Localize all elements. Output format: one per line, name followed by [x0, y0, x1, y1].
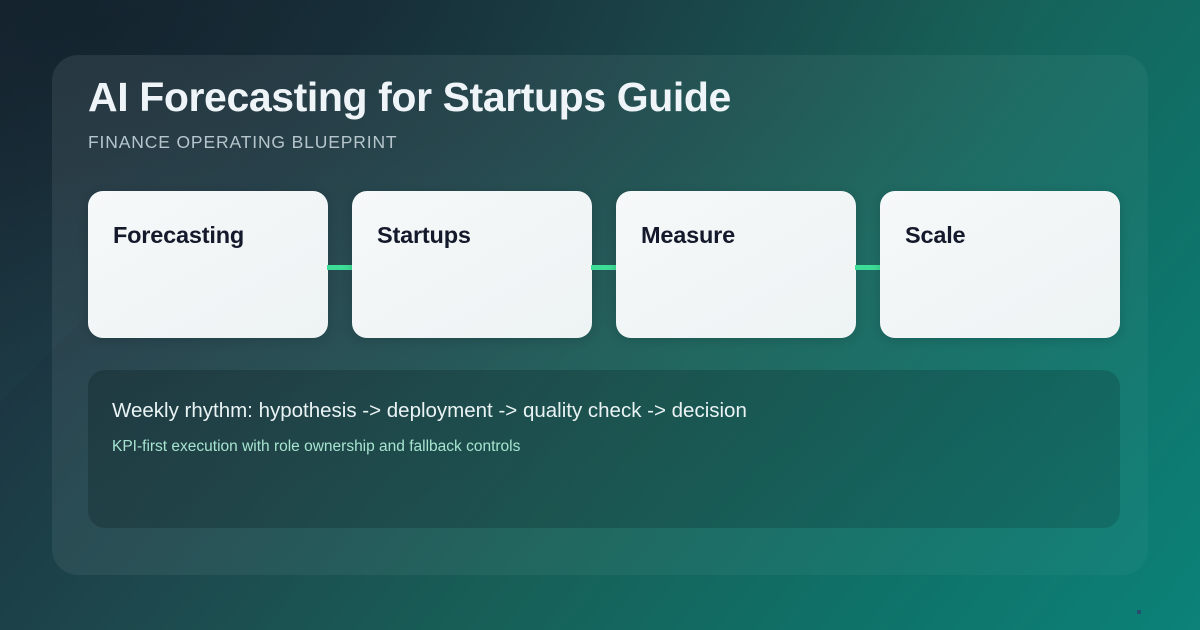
header-block: AI Forecasting for Startups Guide FINANC… [88, 73, 1112, 153]
pixel-artifact [1137, 610, 1141, 614]
content-panel: AI Forecasting for Startups Guide FINANC… [52, 55, 1148, 575]
summary-headline: Weekly rhythm: hypothesis -> deployment … [112, 399, 747, 423]
step-connector-icon [855, 265, 881, 270]
step-connector-icon [591, 265, 617, 270]
step-card-measure[interactable]: Measure [616, 191, 856, 338]
page-title: AI Forecasting for Startups Guide [88, 73, 1112, 121]
summary-panel: Weekly rhythm: hypothesis -> deployment … [88, 370, 1120, 528]
process-step-row: Forecasting Startups Measure Scale [88, 191, 1120, 338]
step-connector-icon [327, 265, 353, 270]
step-card-scale[interactable]: Scale [880, 191, 1120, 338]
step-label: Scale [905, 222, 965, 249]
step-label: Startups [377, 222, 471, 249]
step-card-forecasting[interactable]: Forecasting [88, 191, 328, 338]
page-subtitle: FINANCE OPERATING BLUEPRINT [88, 132, 1112, 153]
step-label: Measure [641, 222, 735, 249]
step-card-startups[interactable]: Startups [352, 191, 592, 338]
step-label: Forecasting [113, 222, 244, 249]
summary-subtext: KPI-first execution with role ownership … [112, 438, 520, 456]
